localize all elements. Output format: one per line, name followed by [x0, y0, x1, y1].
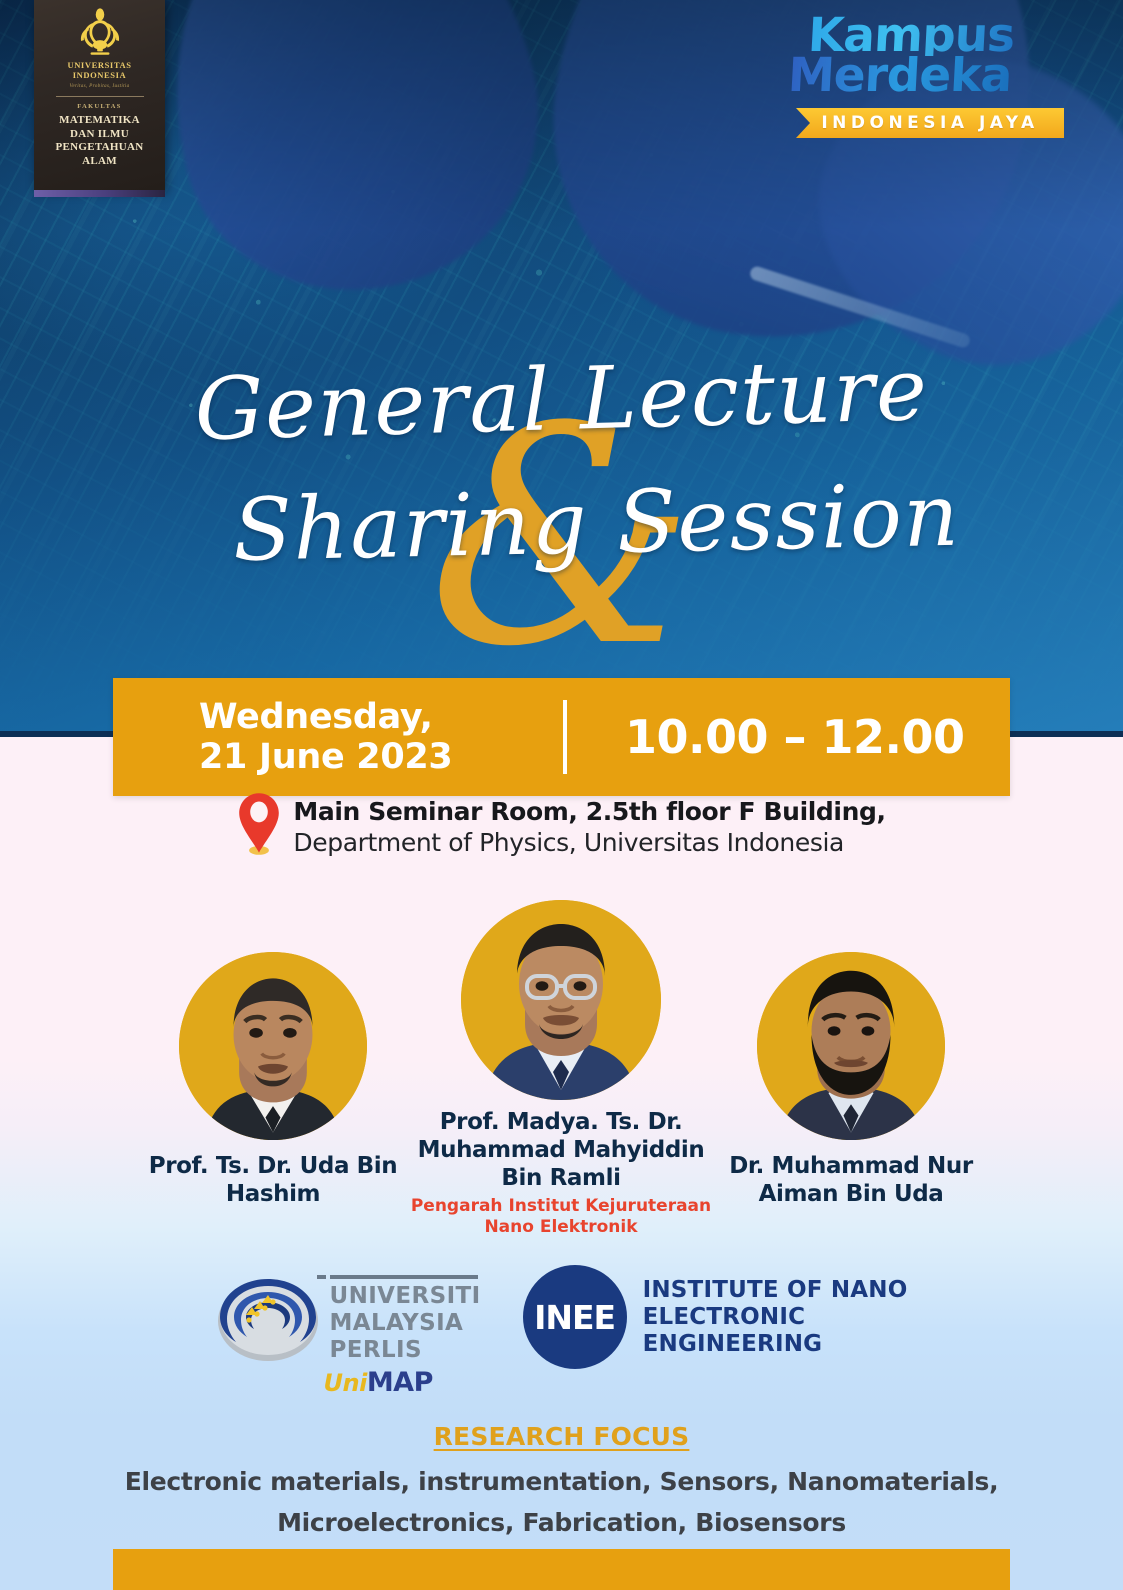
research-focus-heading: RESEARCH FOCUS [0, 1422, 1123, 1451]
universitas-indonesia-makara-icon [76, 7, 124, 59]
kampus-merdeka-logo: Kampus Merdeka INDONESIA JAYA [780, 8, 1080, 148]
research-focus-line-2: Microelectronics, Fabrication, Biosensor… [0, 1502, 1123, 1543]
unimap-swirl-icon [216, 1265, 320, 1369]
footer-bar [113, 1549, 1010, 1590]
schedule-bar: Wednesday, 21 June 2023 10.00 – 12.00 [113, 678, 1010, 796]
unimap-swirl-icon [216, 1265, 320, 1369]
event-location: Main Seminar Room, 2.5th floor F Buildin… [0, 790, 1123, 859]
speaker-name: Dr. Muhammad Nur Aiman Bin Uda [686, 1152, 1016, 1208]
speaker-card: Dr. Muhammad Nur Aiman Bin Uda [686, 952, 1016, 1208]
event-time: 10.00 – 12.00 [575, 710, 965, 764]
faculty-name-line3: PENGETAHUAN [55, 141, 143, 155]
faculty-name-line2: DAN ILMU [55, 128, 143, 142]
event-date: Wednesday, 21 June 2023 [113, 697, 563, 777]
location-line-2: Department of Physics, Universitas Indon… [293, 827, 885, 859]
indonesia-jaya-ribbon: INDONESIA JAYA [796, 108, 1064, 138]
indonesia-jaya-label: INDONESIA JAYA [821, 113, 1038, 133]
unimap-wordmark: UniMAP [324, 1367, 433, 1398]
inee-logo: INEE INSTITUTE OF NANO ELECTRONIC ENGINE… [523, 1265, 908, 1369]
unimap-line-3: PERLIS [330, 1337, 481, 1364]
location-line-1: Main Seminar Room, 2.5th floor F Buildin… [293, 796, 885, 827]
universitas-indonesia-logo: UNIVERSITAS INDONESIA Veritas, Probitas,… [34, 0, 165, 190]
inee-circle-icon: INEE [523, 1265, 627, 1369]
speaker-name: Prof. Madya. Ts. Dr. Muhammad Mahyiddin … [396, 1108, 726, 1192]
speaker-card: Prof. Madya. Ts. Dr. Muhammad Mahyiddin … [396, 900, 726, 1238]
speaker-name: Prof. Ts. Dr. Uda Bin Hashim [108, 1152, 438, 1208]
speakers-section: Prof. Ts. Dr. Uda Bin Hashim [0, 900, 1123, 1220]
inee-line-1: INSTITUTE OF NANO [643, 1277, 908, 1304]
unimap-logo: UNIVERSITI MALAYSIA PERLIS UniMAP [216, 1265, 481, 1369]
speaker-portrait-icon [461, 900, 661, 1100]
event-date-line1: Wednesday, [199, 697, 563, 737]
faculty-name-line4: ALAM [55, 155, 143, 169]
inee-line-2: ELECTRONIC [643, 1304, 908, 1331]
inee-line-3: ENGINEERING [643, 1331, 908, 1358]
ui-name-line2: INDONESIA [73, 71, 127, 81]
partner-logos: UNIVERSITI MALAYSIA PERLIS UniMAP INEE I… [0, 1252, 1123, 1382]
speaker-portrait-icon [179, 952, 367, 1140]
research-focus-line-1: Electronic materials, instrumentation, S… [0, 1461, 1123, 1502]
unimap-tag-prefix: Uni [324, 1369, 367, 1397]
research-focus-section: RESEARCH FOCUS Electronic materials, ins… [0, 1422, 1123, 1543]
faculty-label: FAKULTAS [77, 103, 121, 110]
speaker-portrait-icon [179, 952, 367, 1140]
unimap-line-1: UNIVERSITI [330, 1283, 481, 1310]
title-line-1: General Lecture [0, 334, 1123, 465]
unimap-line-2: MALAYSIA [330, 1310, 481, 1337]
faculty-name-line1: MATEMATIKA [55, 114, 143, 128]
logo-divider [56, 96, 144, 97]
speaker-role: Pengarah Institut Kejuruteraan Nano Elek… [396, 1196, 726, 1238]
schedule-divider [563, 700, 567, 774]
unimap-tag-suffix: MAP [367, 1367, 433, 1398]
map-pin-icon [237, 792, 281, 856]
title-line-2: Sharing Session [0, 462, 1123, 585]
kampus-merdeka-word2: Merdeka [787, 56, 1012, 96]
speaker-portrait-icon [757, 952, 945, 1140]
speaker-portrait-icon [461, 900, 661, 1100]
unimap-rule [330, 1275, 478, 1279]
event-date-line2: 21 June 2023 [199, 737, 563, 777]
poster-title: & General Lecture Sharing Session [0, 326, 1123, 626]
speaker-card: Prof. Ts. Dr. Uda Bin Hashim [108, 952, 438, 1208]
speaker-portrait-icon [757, 952, 945, 1140]
inee-acronym: INEE [534, 1298, 615, 1337]
ui-motto: Veritas, Probitas, Iustitia [69, 83, 129, 89]
event-poster: UNIVERSITAS INDONESIA Veritas, Probitas,… [0, 0, 1123, 1590]
